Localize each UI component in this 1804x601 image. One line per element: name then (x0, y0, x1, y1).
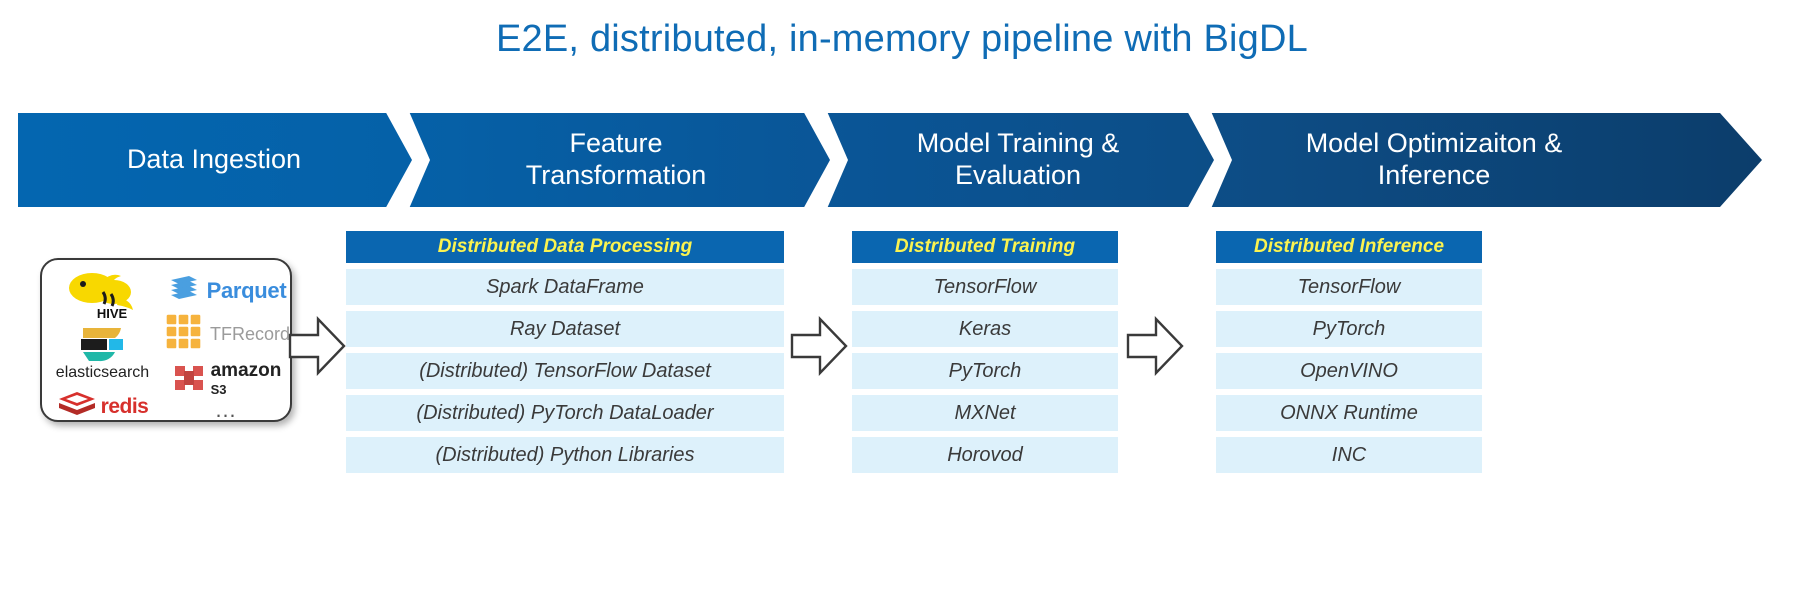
tfrecord-icon (163, 311, 205, 358)
flow-arrow-3-icon (1126, 315, 1184, 377)
table-row[interactable]: Keras (852, 311, 1118, 347)
amazon-s3-logo: amazon S3 (172, 362, 282, 399)
table-row[interactable]: PyTorch (852, 353, 1118, 389)
more-sources-ellipsis: … (214, 397, 238, 423)
parquet-icon (167, 274, 201, 307)
data-sources-right-column: Parquet (163, 260, 290, 420)
chevron-separator-icon-3 (1180, 105, 1232, 215)
redis-wordmark: redis (101, 395, 149, 419)
redis-icon (57, 390, 97, 423)
stage-label-feature-transformation[interactable]: Feature Transformation (410, 113, 822, 207)
elasticsearch-label: elasticsearch (56, 364, 149, 382)
slide-canvas: E2E, distributed, in-memory pipeline wit… (0, 0, 1804, 601)
chevron-separator-icon-2 (796, 105, 848, 215)
table-row[interactable]: Ray Dataset (346, 311, 784, 347)
table-row[interactable]: TensorFlow (1216, 269, 1482, 305)
stage-text: Feature Transformation (526, 128, 707, 192)
amazon-wordmark: amazon (211, 360, 282, 381)
stage-text: Model Training & Evaluation (917, 128, 1120, 192)
parquet-wordmark: Parquet (207, 278, 287, 304)
stage-label-data-ingestion[interactable]: Data Ingestion (18, 113, 410, 207)
amazon-s3-wordmark-block: amazon S3 (211, 362, 282, 399)
parquet-logo: Parquet (167, 274, 287, 307)
table-data-processing: Distributed Data Processing Spark DataFr… (346, 231, 784, 473)
table-header: Distributed Inference (1216, 231, 1482, 263)
table-inference: Distributed Inference TensorFlow PyTorch… (1216, 231, 1482, 473)
table-row[interactable]: ONNX Runtime (1216, 395, 1482, 431)
page-title: E2E, distributed, in-memory pipeline wit… (0, 18, 1804, 61)
table-training: Distributed Training TensorFlow Keras Py… (852, 231, 1118, 473)
table-row[interactable]: Horovod (852, 437, 1118, 473)
redis-logo: redis (57, 390, 149, 423)
elasticsearch-icon (75, 322, 129, 366)
stage-label-model-training-evaluation[interactable]: Model Training & Evaluation (822, 113, 1214, 207)
stage-label-model-optimization-inference[interactable]: Model Optimizaiton & Inference (1214, 113, 1654, 207)
table-row[interactable]: (Distributed) Python Libraries (346, 437, 784, 473)
data-sources-box: HIVE elasticsearch (40, 258, 292, 422)
table-header: Distributed Training (852, 231, 1118, 263)
table-row[interactable]: (Distributed) TensorFlow Dataset (346, 353, 784, 389)
chevron-separator-icon-1 (378, 105, 430, 215)
amazon-s3-icon (172, 362, 206, 399)
tfrecord-wordmark: TFRecord (210, 324, 290, 345)
table-row[interactable]: PyTorch (1216, 311, 1482, 347)
table-header: Distributed Data Processing (346, 231, 784, 263)
stage-text: Data Ingestion (127, 144, 301, 176)
table-row[interactable]: MXNet (852, 395, 1118, 431)
table-row[interactable]: INC (1216, 437, 1482, 473)
table-row[interactable]: (Distributed) PyTorch DataLoader (346, 395, 784, 431)
stage-text: Model Optimizaiton & Inference (1306, 128, 1563, 192)
hive-wordmark: HIVE (97, 306, 128, 320)
flow-arrow-2-icon (790, 315, 848, 377)
data-sources-left-column: HIVE elasticsearch (42, 260, 163, 420)
table-row[interactable]: Spark DataFrame (346, 269, 784, 305)
hive-icon: HIVE (59, 268, 145, 320)
table-row[interactable]: TensorFlow (852, 269, 1118, 305)
pipeline-banner: Data Ingestion Feature Transformation Mo… (18, 113, 1804, 207)
table-row[interactable]: OpenVINO (1216, 353, 1482, 389)
s3-wordmark: S3 (211, 382, 227, 397)
tfrecord-logo: TFRecord (163, 311, 290, 358)
flow-arrow-1-icon (288, 315, 346, 377)
